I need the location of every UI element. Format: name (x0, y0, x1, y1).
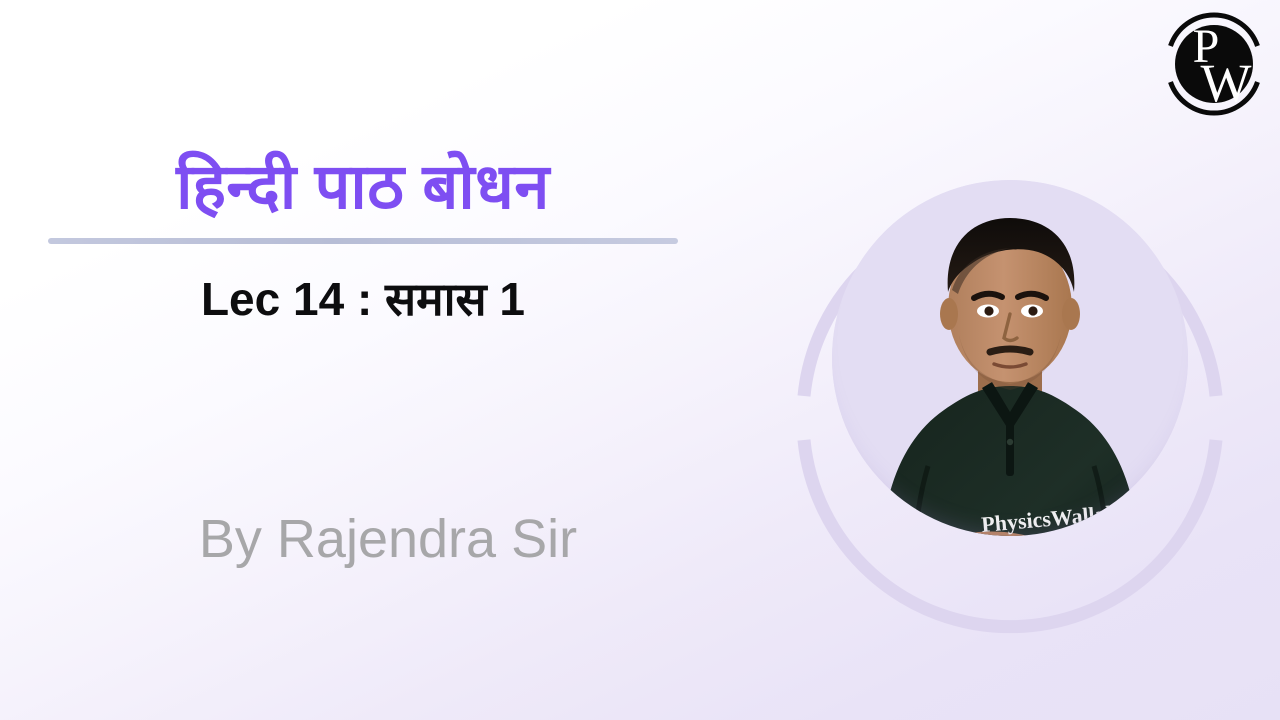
pw-logo-svg: P W (1156, 6, 1272, 122)
lecture-title-slide: P W हिन्दी पाठ बोधन Lec 14 : समास 1 By R… (0, 0, 1280, 720)
page-title: हिन्दी पाठ बोधन (48, 152, 678, 223)
presenter-credit: By Rajendra Sir (48, 508, 728, 570)
logo-letter-w: W (1201, 53, 1252, 113)
lecture-subtitle: Lec 14 : समास 1 (48, 272, 678, 326)
title-block: हिन्दी पाठ बोधन Lec 14 : समास 1 By Rajen… (0, 0, 740, 720)
title-divider (48, 238, 678, 244)
physics-wallah-logo: P W (1156, 6, 1272, 122)
portrait-medallion: PhysicsWallah (790, 140, 1230, 610)
